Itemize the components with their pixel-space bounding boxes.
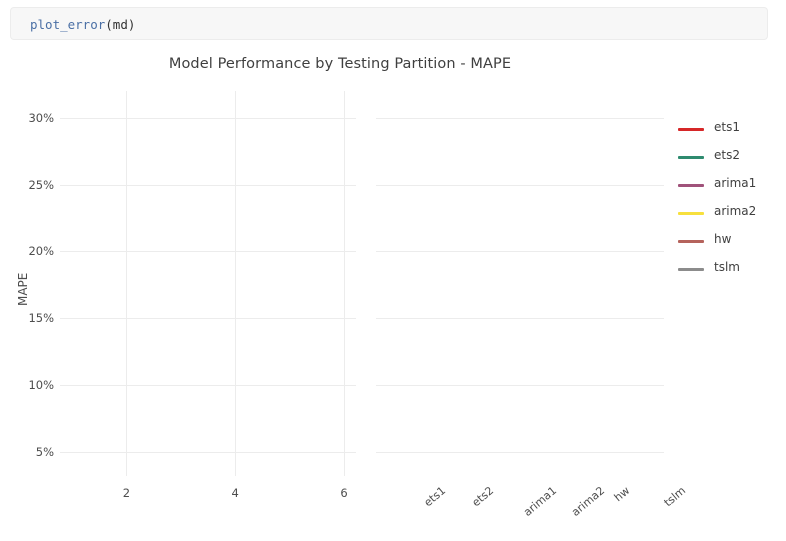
gridline [376,385,664,386]
legend-label: ets2 [714,148,740,162]
legend-color-swatch [678,268,704,271]
vertical-gridline [344,91,345,476]
vertical-gridline [126,91,127,476]
y-tick-label: 20% [8,244,54,258]
legend-color-swatch [678,128,704,131]
gridline [60,385,356,386]
x-tick-label: 6 [340,486,347,500]
gridline [376,452,664,453]
legend-color-swatch [678,184,704,187]
gridline [60,118,356,119]
legend-label: hw [714,232,731,246]
code-open-paren: ( [105,17,113,32]
legend-label: arima1 [714,176,756,190]
panel-background [60,91,356,476]
y-tick-label: 10% [8,378,54,392]
legend-label: ets1 [714,120,740,134]
legend-label: arima2 [714,204,756,218]
legend-item-ets2[interactable]: ets2 [678,144,782,172]
gridline [60,318,356,319]
legend-item-arima2[interactable]: arima2 [678,200,782,228]
gridline [376,251,664,252]
y-axis-label: MAPE [16,272,30,305]
panel-background [376,91,664,476]
legend-color-swatch [678,156,704,159]
y-tick-label: 25% [8,178,54,192]
legend-item-hw[interactable]: hw [678,228,782,256]
x-tick-label-rotated: hw [611,484,632,504]
code-argument: md [113,17,128,32]
chart-figure: Model Performance by Testing Partition -… [0,41,786,541]
gridline [376,118,664,119]
x-tick-label-rotated: ets2 [469,484,496,509]
gridline [60,452,356,453]
x-tick-label-rotated: arima2 [569,484,607,519]
boxplot-panel: ets1ets2arima1arima2hwtslm [376,91,664,476]
chart-legend: ets1ets2arima1arima2hwtslm [678,116,782,284]
legend-label: tslm [714,260,740,274]
x-tick-label-rotated: arima1 [521,484,559,519]
legend-item-tslm[interactable]: tslm [678,256,782,284]
code-close-paren: ) [128,17,136,32]
code-cell-text: plot_error(md) [30,17,135,32]
x-tick-label: 2 [123,486,130,500]
legend-color-swatch [678,212,704,215]
y-tick-label: 5% [8,445,54,459]
legend-item-ets1[interactable]: ets1 [678,116,782,144]
gridline [376,318,664,319]
gridline [376,185,664,186]
legend-color-swatch [678,240,704,243]
gridline [60,251,356,252]
x-tick-label: 4 [232,486,239,500]
y-tick-label: 15% [8,311,54,325]
chart-title: Model Performance by Testing Partition -… [0,56,680,72]
code-cell[interactable]: plot_error(md) [10,7,768,40]
legend-item-arima1[interactable]: arima1 [678,172,782,200]
code-function-name: plot_error [30,17,105,32]
x-tick-label-rotated: ets1 [421,484,448,509]
vertical-gridline [235,91,236,476]
gridline [60,185,356,186]
notebook-output-view: plot_error(md) Model Performance by Test… [0,0,786,541]
y-tick-label: 30% [8,111,54,125]
line-chart-panel: 246 [60,91,356,476]
x-tick-label-rotated: tslm [661,484,688,509]
